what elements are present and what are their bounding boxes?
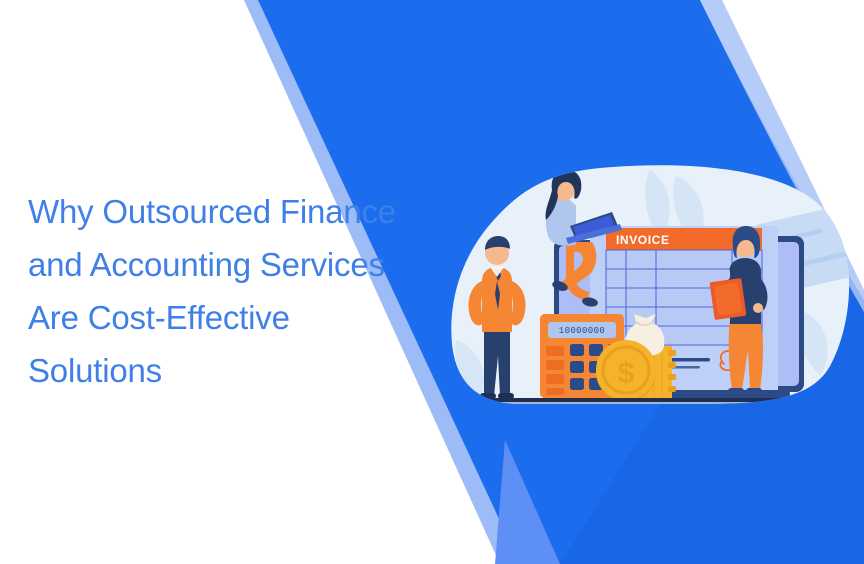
page-title: Why Outsourced Finance and Accounting Se… xyxy=(28,185,398,397)
dollar-symbol: $ xyxy=(618,357,635,390)
clipboard xyxy=(710,278,747,320)
hero-banner: INVOICE xyxy=(0,0,864,564)
ground-line xyxy=(440,398,864,402)
illustration: INVOICE xyxy=(440,150,864,420)
ground-shadow xyxy=(440,402,864,412)
calculator-display: 10000000 xyxy=(559,326,605,336)
invoice-title: INVOICE xyxy=(616,233,670,247)
gold-coin: $ xyxy=(596,340,656,402)
